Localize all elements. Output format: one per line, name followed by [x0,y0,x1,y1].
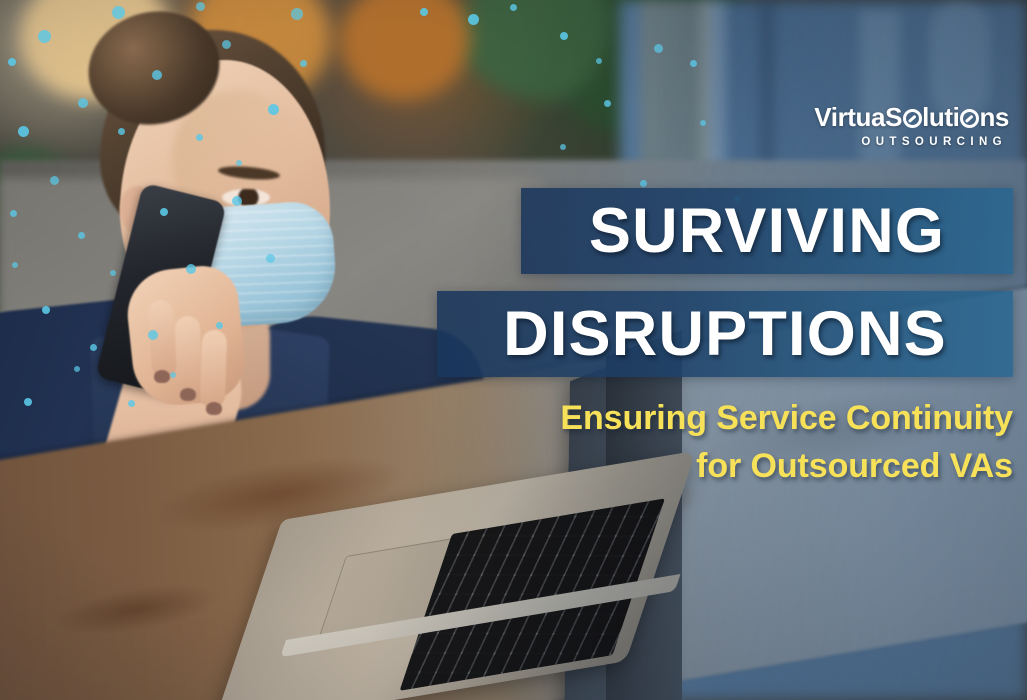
subtitle-line-1: Ensuring Service Continuity [393,394,1013,442]
subtitle-line-2: for Outsourced VAs [393,442,1013,490]
logo-word-virtua: Virtua [814,102,885,132]
banner-root: VirtuaSlutins OUTSOURCING SURVIVING DISR… [0,0,1027,700]
headline-band-1: SURVIVING [521,188,1013,274]
headline-band-2: DISRUPTIONS [437,291,1013,377]
logo-word-luti: luti [922,102,959,132]
gauge-o-icon [903,109,922,128]
logo-word-ns: ns [979,102,1009,132]
logo-word-s: S [885,102,902,132]
gauge-o-icon [960,109,979,128]
headline-line-1: SURVIVING [589,195,945,267]
logo-wordmark: VirtuaSlutins [814,104,1009,131]
headline-line-2: DISRUPTIONS [503,298,947,370]
logo-tagline: OUTSOURCING [814,136,1007,148]
subtitle: Ensuring Service Continuity for Outsourc… [393,394,1013,491]
brand-logo[interactable]: VirtuaSlutins OUTSOURCING [814,104,1009,148]
